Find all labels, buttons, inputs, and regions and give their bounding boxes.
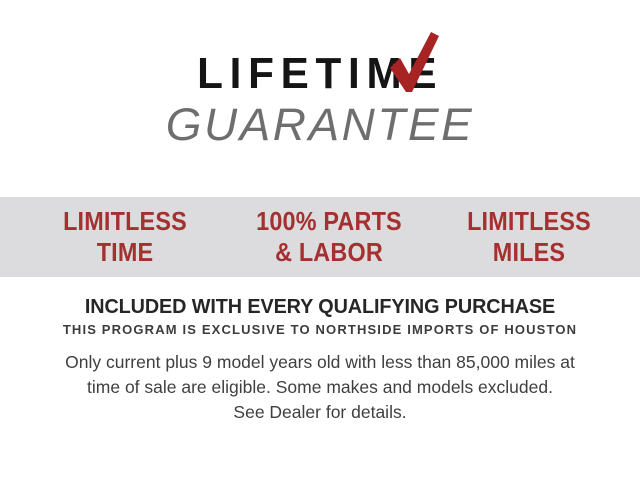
feature-line-1: 100% PARTS (235, 206, 424, 237)
logo-lifetime-row: LIFETIME (192, 52, 448, 96)
feature-column-limitless-miles: LIMITLESS MILES (444, 206, 615, 267)
feature-line-1: LIMITLESS (36, 206, 214, 237)
fine-print-line-1: Only current plus 9 model years old with… (0, 350, 640, 375)
fine-print-disclaimer: Only current plus 9 model years old with… (0, 350, 640, 425)
feature-line-2: TIME (36, 237, 214, 268)
logo-block: LIFETIME GUARANTEE (0, 52, 640, 147)
logo-secondary-word: GUARANTEE (0, 102, 640, 147)
feature-line-1: LIMITLESS (444, 206, 615, 237)
headline-main: INCLUDED WITH EVERY QUALIFYING PURCHASE (3, 296, 637, 318)
lifetime-guarantee-advertisement: LIFETIME GUARANTEE LIMITLESS TIME 100% P… (0, 0, 640, 480)
feature-column-parts-and-labor: 100% PARTS & LABOR (235, 206, 424, 267)
feature-banner: LIMITLESS TIME 100% PARTS & LABOR LIMITL… (0, 197, 640, 277)
feature-column-limitless-time: LIMITLESS TIME (36, 206, 214, 267)
headline-block: INCLUDED WITH EVERY QUALIFYING PURCHASE … (0, 296, 640, 337)
feature-line-2: MILES (444, 237, 615, 268)
feature-line-2: & LABOR (235, 237, 424, 268)
headline-subtitle: THIS PROGRAM IS EXCLUSIVE TO NORTHSIDE I… (0, 323, 640, 337)
fine-print-line-3: See Dealer for details. (0, 400, 640, 425)
logo-primary-word: LIFETIME (197, 52, 443, 96)
fine-print-line-2: time of sale are eligible. Some makes an… (0, 375, 640, 400)
